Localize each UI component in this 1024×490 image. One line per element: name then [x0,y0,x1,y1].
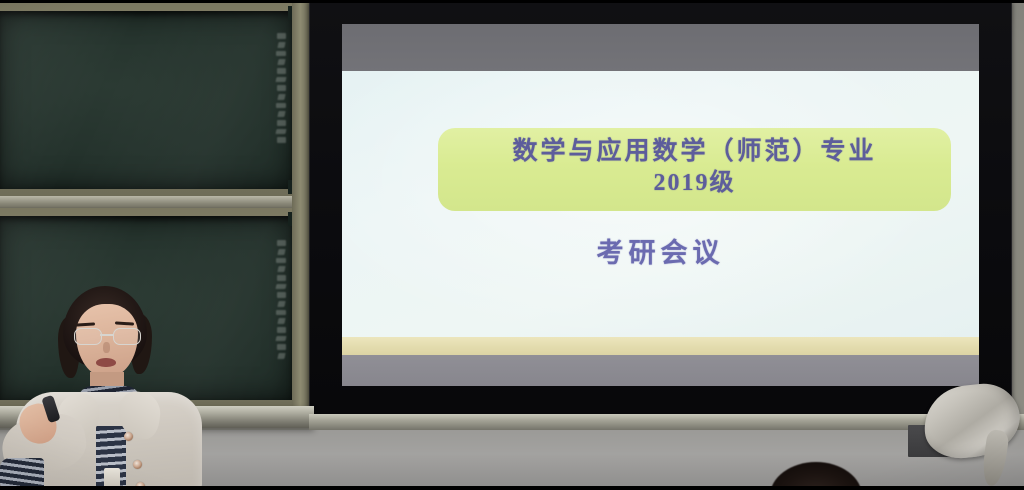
upper-blackboard-frame [0,2,306,198]
slide-subtitle: 考研会议 [342,231,979,270]
teacher-nose [103,342,110,353]
teacher-mouth [96,358,116,367]
classroom-lecture-frame: 数学与应用数学（师范）专业 2019级 考研会议 [0,0,1024,490]
chalk-marks-lower [276,240,286,359]
slide-title-line-2: 2019级 [438,168,951,199]
letterbox-bottom [0,486,1024,490]
slide-title-line-1: 数学与应用数学（师范）专业 [438,136,951,168]
coat-button-1 [124,432,133,441]
projection-screen-bezel: 数学与应用数学（师范）专业 2019级 考研会议 [309,0,1012,418]
letterbox-top [0,0,1024,3]
upper-blackboard-surface [0,11,294,189]
glasses-lens-left [74,328,102,345]
coat-button-2 [133,460,142,469]
projection-band-bottom [342,355,979,386]
glasses-bridge [100,334,113,336]
slide-title-plate: 数学与应用数学（师范）专业 2019级 [438,128,951,211]
projection-band-top [342,24,979,71]
glasses-lens-right [113,328,141,345]
slide-footer-band [342,337,979,355]
presentation-slide: 数学与应用数学（师范）专业 2019级 考研会议 [342,71,979,337]
projected-image: 数学与应用数学（师范）专业 2019级 考研会议 [342,24,979,386]
presenting-teacher [0,286,210,490]
chalk-marks-upper [276,33,286,143]
teacher-glasses [73,328,141,343]
blackboard-sheen [0,11,294,189]
blackboard-inner-shadow [0,11,294,189]
